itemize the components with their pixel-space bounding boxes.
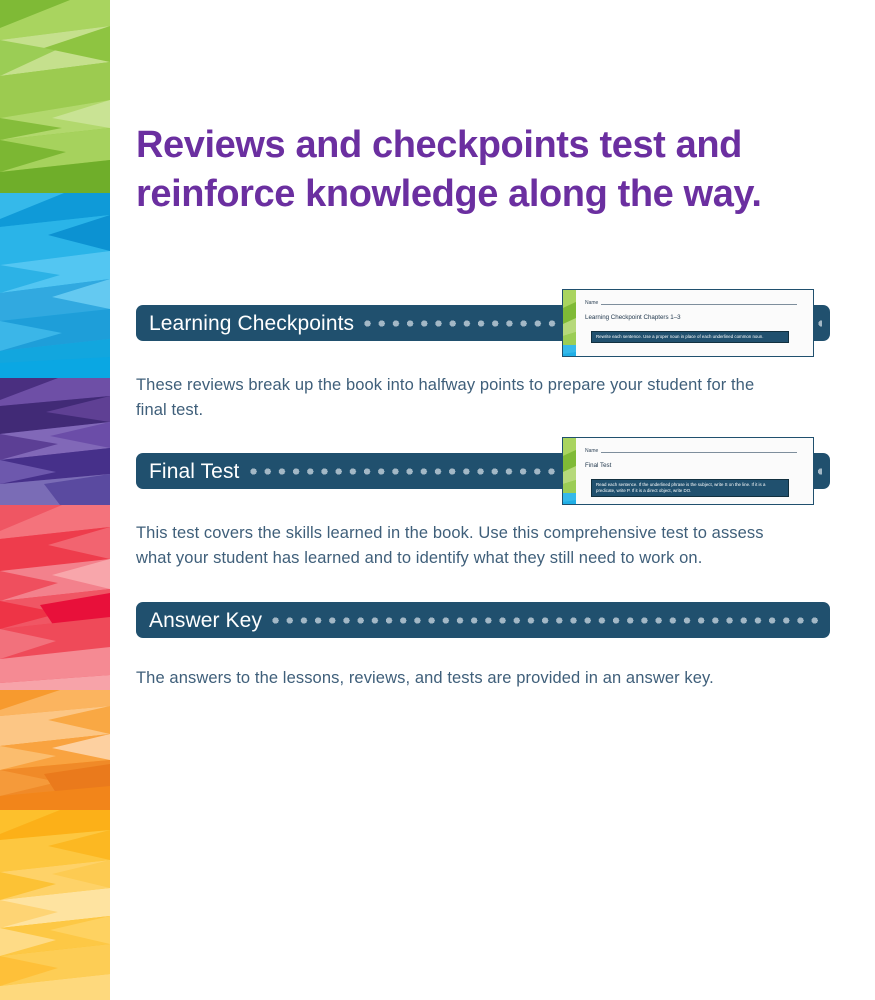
thumbnail-name-rule bbox=[601, 303, 797, 305]
thumbnail-final-test: Name Final Test Read each sentence. If t… bbox=[562, 437, 814, 505]
thumbnail-page-content: Name Learning Checkpoint Chapters 1–3 Re… bbox=[585, 290, 803, 356]
section-label-final-test: Final Test bbox=[136, 461, 250, 482]
decorative-side-stripe bbox=[0, 0, 110, 1000]
section-bar-answer-key: Answer Key bbox=[136, 602, 830, 638]
thumbnail-color-strip bbox=[563, 438, 576, 504]
thumbnail-page-content: Name Final Test Read each sentence. If t… bbox=[585, 438, 803, 504]
thumbnail-name-row: Name bbox=[585, 300, 797, 306]
thumbnail-strip-facets bbox=[563, 438, 576, 504]
section-label-learning-checkpoints: Learning Checkpoints bbox=[136, 313, 364, 334]
side-band-green bbox=[0, 0, 110, 193]
thumbnail-name-row: Name bbox=[585, 448, 797, 454]
page-title-line-2: reinforce knowledge along the way. bbox=[136, 170, 826, 219]
thumbnail-title: Learning Checkpoint Chapters 1–3 bbox=[585, 314, 681, 322]
section-body-answer-key: The answers to the lessons, reviews, and… bbox=[136, 666, 796, 691]
thumbnail-name-rule bbox=[601, 451, 797, 453]
facet-pattern-purple bbox=[0, 378, 110, 505]
side-band-purple bbox=[0, 378, 110, 505]
thumbnail-instruction: Read each sentence. If the underlined ph… bbox=[591, 479, 789, 497]
section-body-learning-checkpoints: These reviews break up the book into hal… bbox=[136, 373, 776, 423]
side-band-orange bbox=[0, 690, 110, 810]
thumbnail-color-strip bbox=[563, 290, 576, 356]
thumbnail-title: Final Test bbox=[585, 462, 611, 470]
facet-pattern-yellow bbox=[0, 810, 110, 1000]
facet-pattern-orange bbox=[0, 690, 110, 810]
facet-pattern-blue bbox=[0, 193, 110, 378]
side-band-red bbox=[0, 505, 110, 690]
facet-pattern-green bbox=[0, 0, 110, 193]
thumbnail-name-label: Name bbox=[585, 300, 601, 306]
section-dot-leader bbox=[272, 617, 822, 624]
section-body-final-test: This test covers the skills learned in t… bbox=[136, 521, 796, 571]
thumbnail-name-label: Name bbox=[585, 448, 601, 454]
page-title-line-1: Reviews and checkpoints test and bbox=[136, 121, 826, 170]
side-band-blue bbox=[0, 193, 110, 378]
facet-pattern-red bbox=[0, 505, 110, 690]
thumbnail-instruction: Rewrite each sentence. Use a proper noun… bbox=[591, 331, 789, 343]
section-label-answer-key: Answer Key bbox=[136, 610, 272, 631]
thumbnail-strip-facets bbox=[563, 290, 576, 356]
page-title: Reviews and checkpoints test and reinfor… bbox=[136, 121, 826, 219]
thumbnail-learning-checkpoints: Name Learning Checkpoint Chapters 1–3 Re… bbox=[562, 289, 814, 357]
side-band-yellow bbox=[0, 810, 110, 1000]
section-answer-key: Answer Key bbox=[136, 602, 830, 638]
